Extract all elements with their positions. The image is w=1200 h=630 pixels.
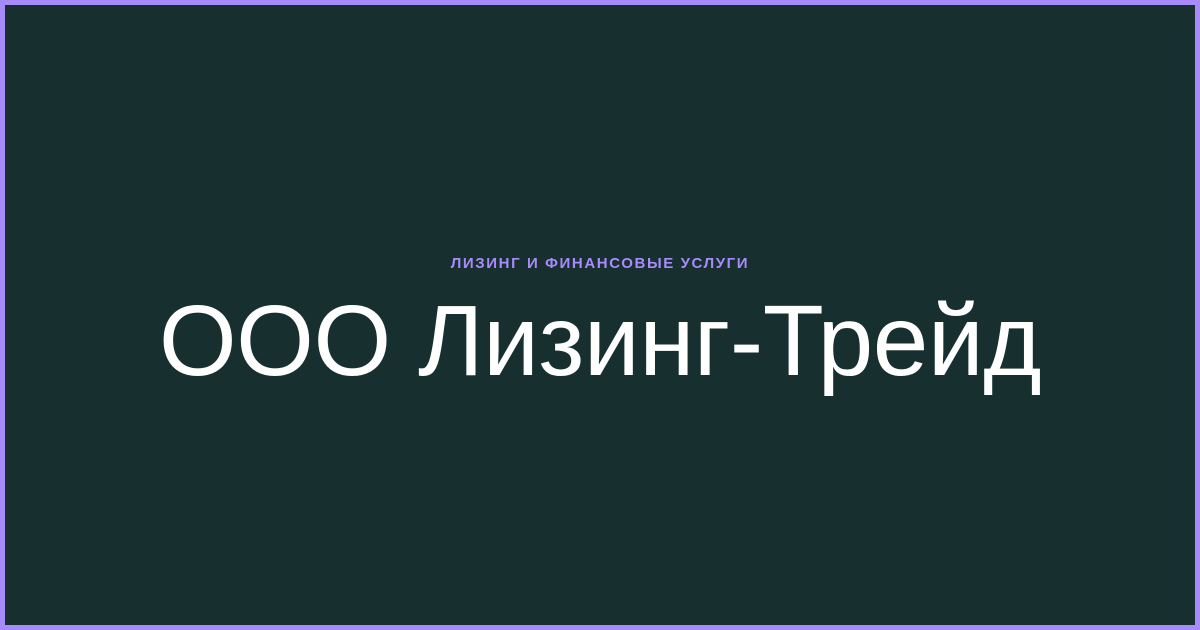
banner-eyebrow: ЛИЗИНГ И ФИНАНСОВЫЕ УСЛУГИ bbox=[451, 255, 749, 273]
page-title: ООО Лизинг-Трейд bbox=[159, 287, 1041, 395]
banner-content-stack: ЛИЗИНГ И ФИНАНСОВЫЕ УСЛУГИ ООО Лизинг-Тр… bbox=[159, 255, 1041, 395]
social-share-banner: ЛИЗИНГ И ФИНАНСОВЫЕ УСЛУГИ ООО Лизинг-Тр… bbox=[0, 0, 1200, 630]
